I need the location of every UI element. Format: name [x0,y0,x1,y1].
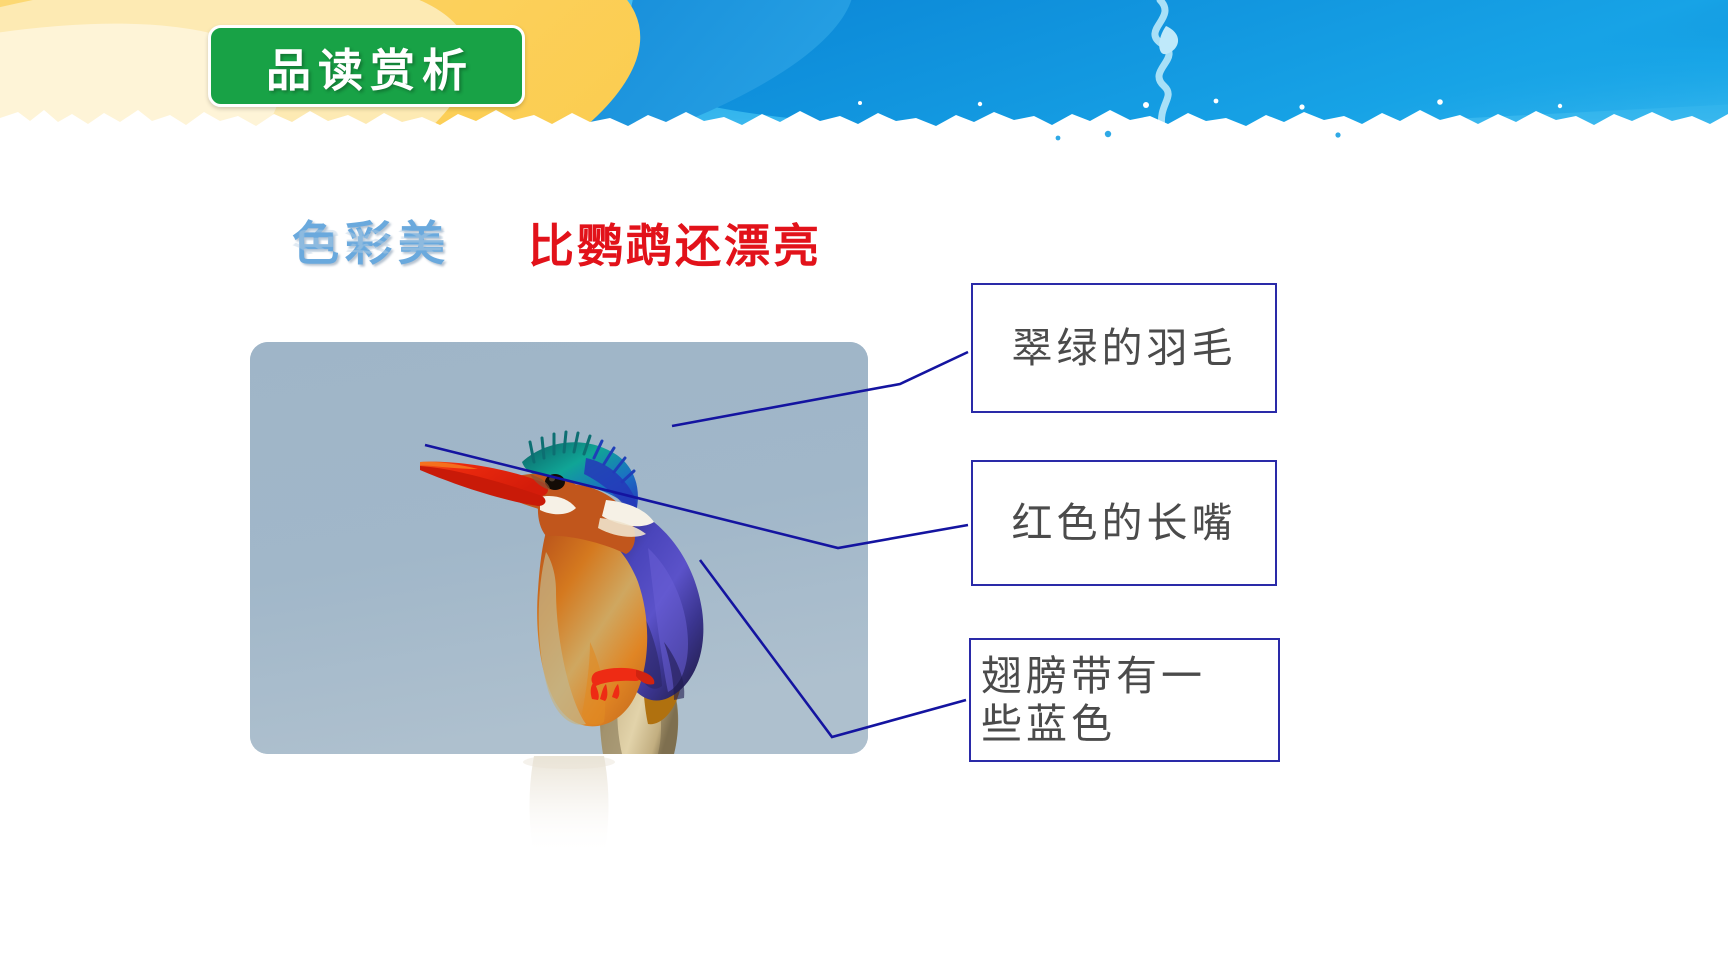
kingfisher-illustration [250,342,868,754]
aspect-label-reflection: 色彩美 [292,224,451,262]
callout-box-wing[interactable]: 翅膀带有一 些蓝色 [969,638,1280,762]
quote-text: 比鹦鹉还漂亮 [528,210,822,276]
section-title-text: 品读赏析 [259,34,474,99]
callout-box-feathers[interactable]: 翠绿的羽毛 [971,283,1277,413]
kingfisher-photo [250,342,868,754]
callout-text-wing: 翅膀带有一 些蓝色 [981,652,1268,749]
callout-text-feathers: 翠绿的羽毛 [1012,324,1237,372]
callout-text-wing-line1: 翅膀带有一 [981,652,1206,700]
callout-box-bill[interactable]: 红色的长嘴 [971,460,1277,586]
callout-text-bill: 红色的长嘴 [1012,499,1237,547]
section-title-plate: 品读赏析 [208,25,525,107]
photo-reflection [430,756,730,864]
slide-canvas: 品读赏析 色彩美 色彩美 比鹦鹉还漂亮 [0,0,1728,972]
callout-text-wing-line2: 些蓝色 [981,700,1116,748]
